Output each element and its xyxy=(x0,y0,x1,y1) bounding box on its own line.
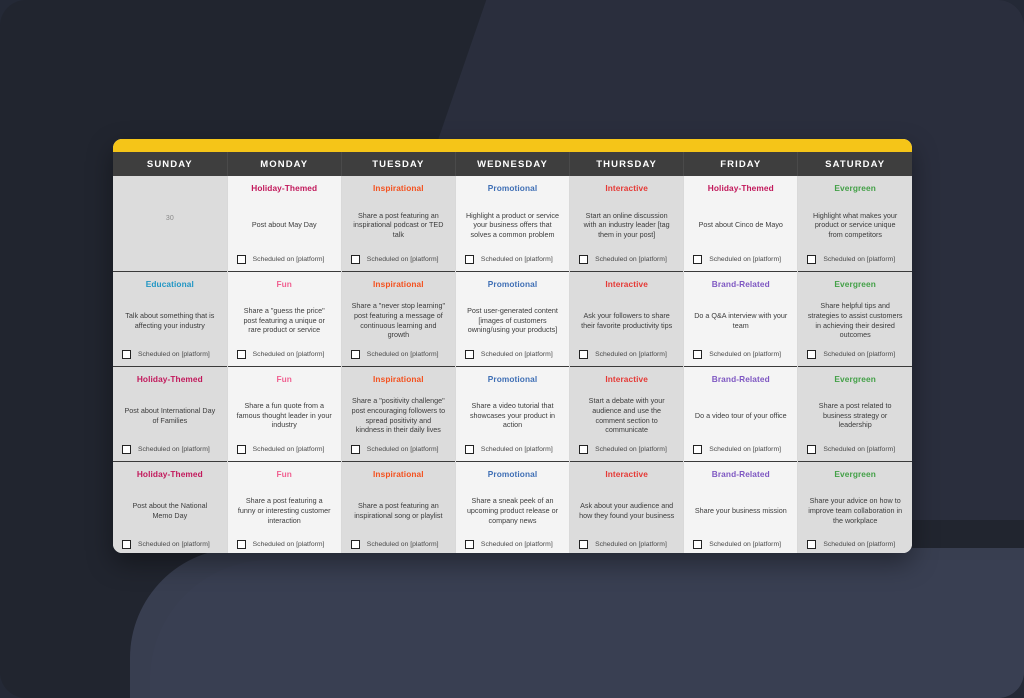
scheduled-label: Scheduled on [platform] xyxy=(823,256,895,263)
scheduled-label: Scheduled on [platform] xyxy=(253,446,325,453)
calendar-cell[interactable]: Holiday-ThemedPost about Cinco de MayoSc… xyxy=(684,176,798,271)
content-category-label: Interactive xyxy=(605,279,648,290)
scheduled-row[interactable]: Scheduled on [platform] xyxy=(120,350,220,366)
checkbox-icon[interactable] xyxy=(693,255,702,264)
scheduled-row[interactable]: Scheduled on [platform] xyxy=(805,255,905,271)
scheduled-row[interactable]: Scheduled on [platform] xyxy=(235,255,334,271)
checkbox-icon[interactable] xyxy=(237,540,246,549)
content-idea-description: Share a "guess the price" post featuring… xyxy=(235,292,334,350)
calendar-cell[interactable]: EducationalTalk about something that is … xyxy=(113,271,227,366)
scheduled-label: Scheduled on [platform] xyxy=(481,541,553,548)
calendar-cell[interactable]: InspirationalShare a post featuring an i… xyxy=(341,461,455,553)
scheduled-row[interactable]: Scheduled on [platform] xyxy=(235,350,334,366)
calendar-cell[interactable]: Holiday-ThemedPost about May DaySchedule… xyxy=(227,176,341,271)
calendar-cell[interactable]: PromotionalShare a sneak peek of an upco… xyxy=(455,461,569,553)
content-category-label: Holiday-Themed xyxy=(251,183,317,194)
scheduled-row[interactable]: Scheduled on [platform] xyxy=(805,350,905,366)
cell-content: InspirationalShare a "positivity challen… xyxy=(342,367,455,461)
checkbox-icon[interactable] xyxy=(351,255,360,264)
content-category-label: Promotional xyxy=(488,469,538,480)
cell-content: Brand-RelatedDo a Q&A interview with you… xyxy=(684,272,797,366)
calendar-cell[interactable]: FunShare a post featuring a funny or int… xyxy=(227,461,341,553)
checkbox-icon[interactable] xyxy=(579,540,588,549)
content-idea-description: Share a video tutorial that showcases yo… xyxy=(463,387,562,445)
content-category-label: Fun xyxy=(276,374,292,385)
cell-content: PromotionalHighlight a product or servic… xyxy=(456,176,569,271)
cell-content: InteractiveAsk about your audience and h… xyxy=(570,462,683,554)
checkbox-icon[interactable] xyxy=(693,445,702,454)
checkbox-icon[interactable] xyxy=(579,445,588,454)
content-category-label: Brand-Related xyxy=(712,374,770,385)
cell-content: PromotionalShare a video tutorial that s… xyxy=(456,367,569,461)
checkbox-icon[interactable] xyxy=(237,255,246,264)
page-root: SUNDAYMONDAYTUESDAYWEDNESDAYTHURSDAYFRID… xyxy=(0,0,1024,698)
checkbox-icon[interactable] xyxy=(579,255,588,264)
checkbox-icon[interactable] xyxy=(351,540,360,549)
cell-content: Holiday-ThemedPost about Cinco de MayoSc… xyxy=(684,176,797,271)
calendar-cell[interactable]: InspirationalShare a post featuring an i… xyxy=(341,176,455,271)
scheduled-row[interactable]: Scheduled on [platform] xyxy=(463,255,562,271)
scheduled-row[interactable]: Scheduled on [platform] xyxy=(349,540,448,553)
content-idea-description: Post about the National Memo Day xyxy=(120,482,220,541)
scheduled-label: Scheduled on [platform] xyxy=(367,256,439,263)
accent-bar xyxy=(113,139,912,152)
content-idea-description: Highlight a product or service your busi… xyxy=(463,196,562,255)
checkbox-icon[interactable] xyxy=(807,540,816,549)
content-category-label: Evergreen xyxy=(834,374,876,385)
cell-content: InspirationalShare a post featuring an i… xyxy=(342,176,455,271)
content-idea-description: Share a post related to business strateg… xyxy=(805,387,905,445)
calendar-body: 30Scheduled on [platform]Holiday-ThemedP… xyxy=(113,176,912,553)
content-idea-description: Share helpful tips and strategies to ass… xyxy=(805,292,905,350)
cell-content: EducationalTalk about something that is … xyxy=(113,272,227,366)
content-category-label: Brand-Related xyxy=(712,469,770,480)
cell-content: Holiday-ThemedPost about May DaySchedule… xyxy=(228,176,341,271)
content-category-label: Inspirational xyxy=(373,374,424,385)
calendar-header: SUNDAYMONDAYTUESDAYWEDNESDAYTHURSDAYFRID… xyxy=(113,152,912,176)
content-calendar-card: SUNDAYMONDAYTUESDAYWEDNESDAYTHURSDAYFRID… xyxy=(113,139,912,553)
day-header-row: SUNDAYMONDAYTUESDAYWEDNESDAYTHURSDAYFRID… xyxy=(113,152,912,176)
calendar-cell[interactable]: PromotionalPost user-generated content [… xyxy=(455,271,569,366)
scheduled-label: Scheduled on [platform] xyxy=(481,351,553,358)
checkbox-icon[interactable] xyxy=(693,540,702,549)
scheduled-row[interactable]: Scheduled on [platform] xyxy=(577,350,676,366)
calendar-week-row: Holiday-ThemedPost about the National Me… xyxy=(113,461,912,553)
cell-content: EvergreenShare a post related to busines… xyxy=(798,367,912,461)
content-category-label: Brand-Related xyxy=(712,279,770,290)
scheduled-label: Scheduled on [platform] xyxy=(709,351,781,358)
content-idea-description: Share your business mission xyxy=(693,482,789,541)
scheduled-label: Scheduled on [platform] xyxy=(138,446,210,453)
cell-content: InteractiveAsk your followers to share t… xyxy=(570,272,683,366)
content-idea-description: Post about May Day xyxy=(250,196,319,255)
content-idea-description: Post about International Day of Families xyxy=(120,387,220,445)
content-category-label: Holiday-Themed xyxy=(708,183,774,194)
scheduled-label: Scheduled on [platform] xyxy=(138,351,210,358)
scheduled-row[interactable]: Scheduled on [platform] xyxy=(463,445,562,461)
scheduled-label: Scheduled on [platform] xyxy=(481,256,553,263)
content-idea-description: Share a sneak peek of an upcoming produc… xyxy=(463,482,562,541)
calendar-cell[interactable]: InteractiveAsk your followers to share t… xyxy=(570,271,684,366)
cell-content: Holiday-ThemedPost about the National Me… xyxy=(113,462,227,554)
cell-content: Brand-RelatedShare your business mission… xyxy=(684,462,797,554)
calendar-cell[interactable]: PromotionalShare a video tutorial that s… xyxy=(455,366,569,461)
scheduled-row[interactable]: Scheduled on [platform] xyxy=(349,255,448,271)
calendar-cell[interactable]: Holiday-ThemedPost about the National Me… xyxy=(113,461,227,553)
content-category-label: Inspirational xyxy=(373,279,424,290)
cell-content: PromotionalPost user-generated content [… xyxy=(456,272,569,366)
calendar-cell[interactable]: Brand-RelatedDo a Q&A interview with you… xyxy=(684,271,798,366)
content-idea-description: Start an online discussion with an indus… xyxy=(577,196,676,255)
calendar-cell[interactable]: Holiday-ThemedPost about International D… xyxy=(113,366,227,461)
scheduled-label: Scheduled on [platform] xyxy=(253,541,325,548)
cell-content: PromotionalShare a sneak peek of an upco… xyxy=(456,462,569,554)
day-header-wednesday: WEDNESDAY xyxy=(455,152,569,176)
scheduled-row[interactable]: Scheduled on [platform] xyxy=(349,350,448,366)
cell-content: EvergreenHighlight what makes your produ… xyxy=(798,176,912,271)
calendar-cell[interactable]: EvergreenShare your advice on how to imp… xyxy=(798,461,912,553)
scheduled-label: Scheduled on [platform] xyxy=(367,541,439,548)
content-idea-description: Ask your followers to share their favori… xyxy=(577,292,676,350)
day-header-friday: FRIDAY xyxy=(684,152,798,176)
content-idea-description: Do a video tour of your office xyxy=(693,387,789,445)
cell-content: Holiday-ThemedPost about International D… xyxy=(113,367,227,461)
content-idea-description: Share a "positivity challenge" post enco… xyxy=(349,387,448,445)
scheduled-row[interactable]: Scheduled on [platform] xyxy=(805,445,905,461)
checkbox-icon[interactable] xyxy=(351,445,360,454)
cell-content: InspirationalShare a post featuring an i… xyxy=(342,462,455,554)
calendar-cell[interactable]: Brand-RelatedDo a video tour of your off… xyxy=(684,366,798,461)
content-category-label: Interactive xyxy=(605,374,648,385)
scheduled-row[interactable]: Scheduled on [platform] xyxy=(577,540,676,553)
content-category-label: Fun xyxy=(276,279,292,290)
content-category-label: Inspirational xyxy=(373,183,424,194)
scheduled-label: Scheduled on [platform] xyxy=(367,351,439,358)
scheduled-label: Scheduled on [platform] xyxy=(823,351,895,358)
scheduled-label: Scheduled on [platform] xyxy=(595,256,667,263)
calendar-cell[interactable]: Brand-RelatedShare your business mission… xyxy=(684,461,798,553)
content-category-label: Promotional xyxy=(488,279,538,290)
checkbox-icon[interactable] xyxy=(122,350,131,359)
calendar-cell[interactable]: EvergreenHighlight what makes your produ… xyxy=(798,176,912,271)
checkbox-icon[interactable] xyxy=(465,540,474,549)
scheduled-row[interactable]: Scheduled on [platform] xyxy=(463,350,562,366)
content-idea-description: Do a Q&A interview with your team xyxy=(691,292,790,350)
content-idea-description: Post about Cinco de Mayo xyxy=(697,196,785,255)
calendar-cell[interactable]: InteractiveAsk about your audience and h… xyxy=(570,461,684,553)
calendar-week-row: Holiday-ThemedPost about International D… xyxy=(113,366,912,461)
content-idea-description: Post user-generated content [images of c… xyxy=(463,292,562,350)
day-header-thursday: THURSDAY xyxy=(570,152,684,176)
content-idea-description: Share a fun quote from a famous thought … xyxy=(235,387,334,445)
content-category-label: Evergreen xyxy=(834,279,876,290)
cell-content: InteractiveStart a debate with your audi… xyxy=(570,367,683,461)
background-panel xyxy=(130,548,1024,698)
scheduled-label: Scheduled on [platform] xyxy=(253,351,325,358)
scheduled-label: Scheduled on [platform] xyxy=(367,446,439,453)
calendar-cell[interactable]: InteractiveStart an online discussion wi… xyxy=(570,176,684,271)
content-idea-description: Start a debate with your audience and us… xyxy=(577,387,676,445)
cell-content: FunShare a post featuring a funny or int… xyxy=(228,462,341,554)
cell-content: InspirationalShare a "never stop learnin… xyxy=(342,272,455,366)
scheduled-row[interactable]: Scheduled on [platform] xyxy=(463,540,562,553)
content-category-label: Inspirational xyxy=(373,469,424,480)
content-idea-description: Ask about your audience and how they fou… xyxy=(577,482,676,541)
cell-content: EvergreenShare your advice on how to imp… xyxy=(798,462,912,554)
content-category-label: Holiday-Themed xyxy=(137,374,203,385)
content-idea-description: Share a post featuring an inspirational … xyxy=(349,482,448,541)
checkbox-icon[interactable] xyxy=(351,350,360,359)
scheduled-label: Scheduled on [platform] xyxy=(481,446,553,453)
calendar-cell[interactable]: PromotionalHighlight a product or servic… xyxy=(455,176,569,271)
scheduled-row[interactable]: Scheduled on [platform] xyxy=(691,350,790,366)
content-category-label: Promotional xyxy=(488,183,538,194)
content-idea-description: Share a post featuring an inspirational … xyxy=(349,196,448,255)
scheduled-row[interactable]: Scheduled on [platform] xyxy=(805,540,905,553)
content-category-label: Holiday-Themed xyxy=(137,469,203,480)
checkbox-icon[interactable] xyxy=(807,255,816,264)
scheduled-label: Scheduled on [platform] xyxy=(595,541,667,548)
scheduled-row[interactable]: Scheduled on [platform] xyxy=(120,540,220,553)
checkbox-icon[interactable] xyxy=(237,350,246,359)
cell-content: 30Scheduled on [platform] xyxy=(113,176,227,271)
scheduled-label: Scheduled on [platform] xyxy=(595,351,667,358)
day-header-monday: MONDAY xyxy=(227,152,341,176)
cell-content: EvergreenShare helpful tips and strategi… xyxy=(798,272,912,366)
content-category-label: Evergreen xyxy=(834,183,876,194)
cell-content: FunShare a fun quote from a famous thoug… xyxy=(228,367,341,461)
content-category-label: Interactive xyxy=(605,469,648,480)
day-header-tuesday: TUESDAY xyxy=(341,152,455,176)
checkbox-icon[interactable] xyxy=(122,445,131,454)
calendar-cell[interactable]: InspirationalShare a "positivity challen… xyxy=(341,366,455,461)
day-header-sunday: SUNDAY xyxy=(113,152,227,176)
scheduled-row[interactable]: Scheduled on [platform] xyxy=(349,445,448,461)
calendar-cell[interactable]: EvergreenShare a post related to busines… xyxy=(798,366,912,461)
content-idea-description: Talk about something that is affecting y… xyxy=(120,292,220,350)
checkbox-icon[interactable] xyxy=(579,350,588,359)
calendar-cell[interactable]: FunShare a "guess the price" post featur… xyxy=(227,271,341,366)
scheduled-row[interactable]: Scheduled on [platform] xyxy=(235,540,334,553)
scheduled-row[interactable]: Scheduled on [platform] xyxy=(120,445,220,461)
scheduled-label: Scheduled on [platform] xyxy=(823,541,895,548)
calendar-week-row: EducationalTalk about something that is … xyxy=(113,271,912,366)
scheduled-label: Scheduled on [platform] xyxy=(709,256,781,263)
content-category-label: Educational xyxy=(146,279,194,290)
cell-content: InteractiveStart an online discussion wi… xyxy=(570,176,683,271)
content-category-label: Promotional xyxy=(488,374,538,385)
checkbox-icon[interactable] xyxy=(465,445,474,454)
scheduled-label: Scheduled on [platform] xyxy=(138,541,210,548)
scheduled-row[interactable]: Scheduled on [platform] xyxy=(577,255,676,271)
calendar-cell[interactable]: 30Scheduled on [platform] xyxy=(113,176,227,271)
content-category-label: Evergreen xyxy=(834,469,876,480)
checkbox-icon[interactable] xyxy=(807,350,816,359)
cell-content: FunShare a "guess the price" post featur… xyxy=(228,272,341,366)
content-idea-description: Highlight what makes your product or ser… xyxy=(805,196,905,255)
scheduled-label: Scheduled on [platform] xyxy=(709,446,781,453)
content-category-label: Fun xyxy=(276,469,292,480)
content-idea-description: Share a "never stop learning" post featu… xyxy=(349,292,448,350)
checkbox-icon[interactable] xyxy=(465,255,474,264)
scheduled-label: Scheduled on [platform] xyxy=(709,541,781,548)
scheduled-row[interactable]: Scheduled on [platform] xyxy=(691,255,790,271)
content-category-label: Interactive xyxy=(605,183,648,194)
scheduled-row[interactable]: Scheduled on [platform] xyxy=(691,540,790,553)
calendar-week-row: 30Scheduled on [platform]Holiday-ThemedP… xyxy=(113,176,912,271)
checkbox-icon[interactable] xyxy=(237,445,246,454)
day-header-saturday: SATURDAY xyxy=(798,152,912,176)
checkbox-icon[interactable] xyxy=(465,350,474,359)
checkbox-icon[interactable] xyxy=(807,445,816,454)
scheduled-row[interactable]: Scheduled on [platform] xyxy=(691,445,790,461)
calendar-cell[interactable]: FunShare a fun quote from a famous thoug… xyxy=(227,366,341,461)
content-idea-description: Share your advice on how to improve team… xyxy=(805,482,905,541)
calendar-cell[interactable]: InspirationalShare a "never stop learnin… xyxy=(341,271,455,366)
cell-content: Brand-RelatedDo a video tour of your off… xyxy=(684,367,797,461)
day-number: 30 xyxy=(166,183,174,255)
scheduled-label: Scheduled on [platform] xyxy=(823,446,895,453)
scheduled-row[interactable]: Scheduled on [platform] xyxy=(577,445,676,461)
scheduled-label: Scheduled on [platform] xyxy=(595,446,667,453)
calendar-table: SUNDAYMONDAYTUESDAYWEDNESDAYTHURSDAYFRID… xyxy=(113,152,912,553)
calendar-cell[interactable]: EvergreenShare helpful tips and strategi… xyxy=(798,271,912,366)
scheduled-label: Scheduled on [platform] xyxy=(253,256,325,263)
scheduled-row[interactable]: Scheduled on [platform] xyxy=(235,445,334,461)
content-idea-description: Share a post featuring a funny or intere… xyxy=(235,482,334,541)
checkbox-icon[interactable] xyxy=(693,350,702,359)
calendar-cell[interactable]: InteractiveStart a debate with your audi… xyxy=(570,366,684,461)
checkbox-icon[interactable] xyxy=(122,540,131,549)
